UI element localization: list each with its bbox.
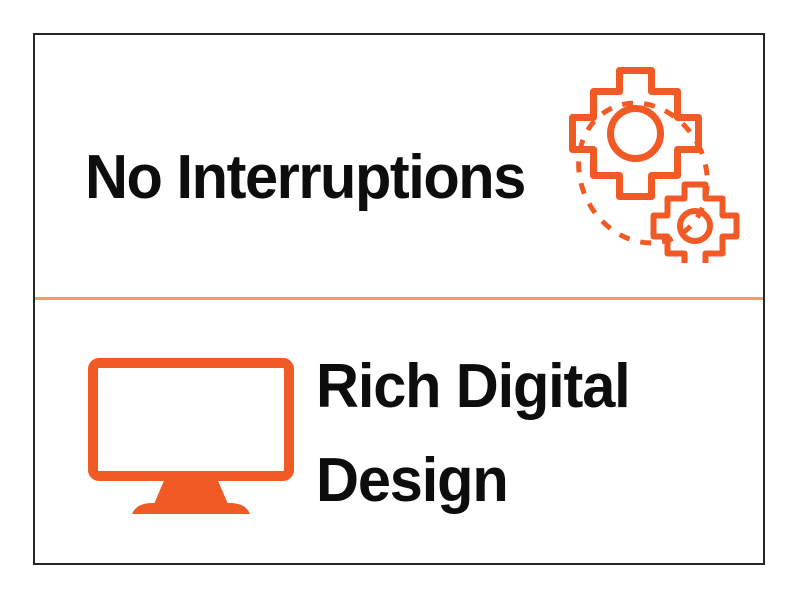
monitor-stand-neck <box>154 476 228 504</box>
panel-no-interruptions: No Interruptions <box>35 35 763 297</box>
monitor-stand-base <box>132 503 250 514</box>
gear-large <box>573 71 699 197</box>
desktop-monitor-icon <box>88 358 294 518</box>
gears-icon <box>550 63 740 263</box>
slide-canvas: No Interruptions <box>0 0 800 600</box>
panel-heading-rich-digital-design: Rich Digital Design <box>316 340 681 528</box>
feature-card: No Interruptions <box>33 33 765 565</box>
gear-small <box>654 185 737 264</box>
panel-rich-digital-design: Rich Digital Design <box>35 300 763 567</box>
monitor-screen-frame <box>93 363 289 476</box>
panel-heading-no-interruptions: No Interruptions <box>85 147 525 209</box>
